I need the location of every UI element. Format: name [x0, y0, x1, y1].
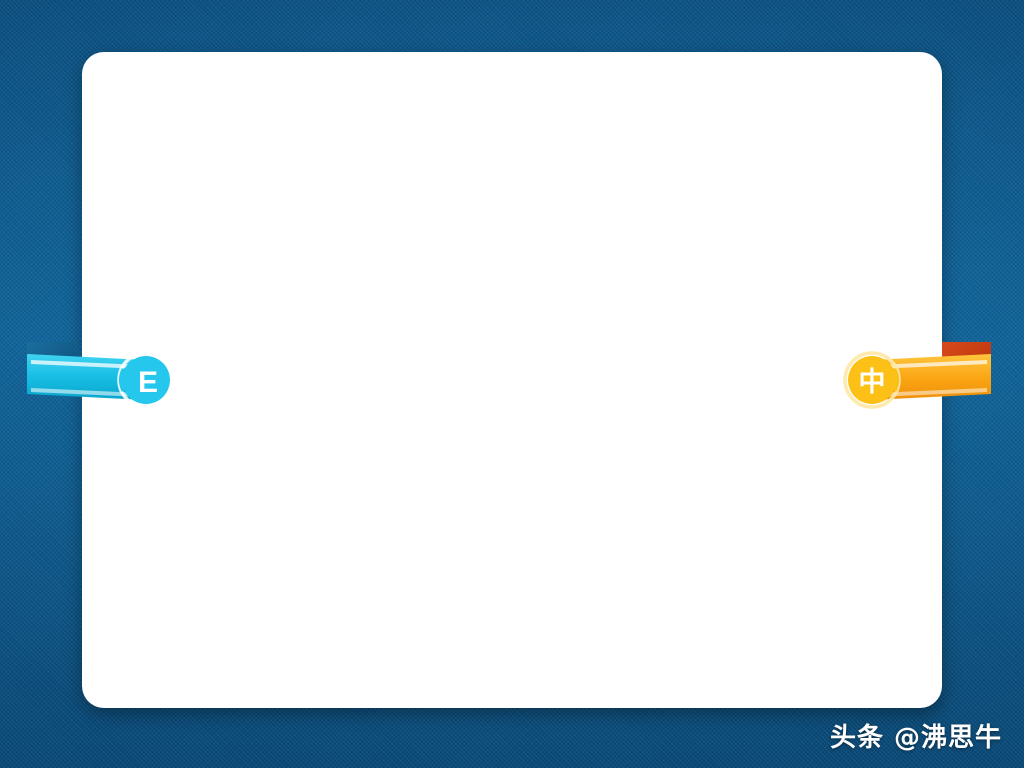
slide-canvas: Pachyrhinosaurus 我生活在白垩纪， 体长8米， 重4吨， 我喜欢…	[0, 0, 1024, 768]
english-ribbon[interactable]: E	[18, 338, 218, 418]
chinese-ribbon[interactable]: 中	[800, 338, 1000, 418]
chinese-badge-label: 中	[859, 367, 886, 398]
watermark: 头条 @沸思牛	[830, 717, 1002, 754]
english-badge-label: E	[138, 366, 158, 399]
